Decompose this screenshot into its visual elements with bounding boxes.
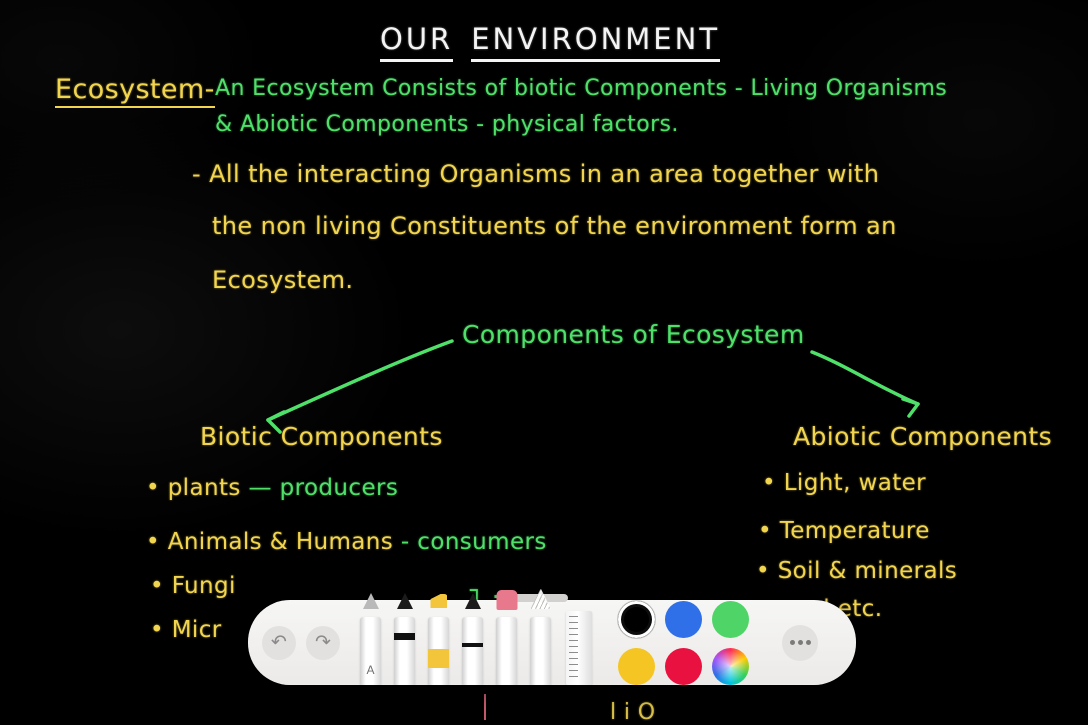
fountain-pen-letter: A: [360, 663, 381, 677]
abiotic-item-3-bullet: •: [756, 558, 770, 584]
fountain-pen-tool[interactable]: A: [358, 607, 383, 685]
color-picker-wheel[interactable]: [712, 648, 749, 685]
history-controls: ↶ ↷: [248, 626, 340, 660]
color-swatch-red[interactable]: [665, 648, 702, 685]
ruler-tool[interactable]: [566, 611, 592, 685]
biotic-item-1-sub: producers: [280, 475, 399, 501]
redo-icon[interactable]: ↷: [306, 626, 340, 660]
arrow-to-abiotic-head: [903, 399, 918, 416]
ink-pen-body-icon: [394, 617, 415, 685]
more-options-icon[interactable]: [782, 625, 818, 661]
biotic-item-4: • Micr: [150, 617, 222, 643]
abiotic-item-3: • Soil & minerals: [756, 558, 957, 584]
biotic-item-2: • Animals & Humans - consumers: [146, 529, 547, 555]
fountain-pen-tip-icon: [363, 593, 379, 609]
color-swatch-yellow[interactable]: [618, 648, 655, 685]
pencil-tip-icon: [465, 593, 481, 609]
paragraph2-line-2: the non living Constituents of the envir…: [212, 212, 897, 240]
definition-line-1: An Ecosystem Consists of biotic Componen…: [215, 76, 947, 101]
biotic-item-1-bullet: •: [146, 475, 160, 501]
ink-pen-tool[interactable]: [392, 607, 417, 685]
highlighter-body-icon: [428, 617, 449, 685]
biotic-item-2-bullet: •: [146, 529, 160, 555]
abiotic-item-2: • Temperature: [758, 518, 930, 544]
arrow-to-biotic-line: [268, 341, 452, 420]
charcoal-pencil-tool[interactable]: [528, 607, 553, 685]
abiotic-item-3-text: Soil & minerals: [778, 558, 957, 584]
abiotic-heading: Abiotic Components: [793, 422, 1052, 451]
definition-line-2: & Abiotic Components - physical factors.: [215, 112, 679, 137]
biotic-item-1-dash: —: [248, 475, 271, 501]
eraser-tool[interactable]: [494, 607, 519, 685]
biotic-heading: Biotic Components: [200, 422, 443, 451]
color-swatches: [618, 599, 752, 686]
drawing-toolbar[interactable]: ↶ ↷ A: [248, 600, 856, 685]
tool-palette: A: [358, 600, 592, 685]
eraser-body-icon: [496, 617, 517, 685]
biotic-item-4-text: Micr: [172, 617, 222, 643]
arrow-to-abiotic-line: [812, 352, 918, 404]
abiotic-item-2-text: Temperature: [780, 518, 930, 544]
definition-label: Ecosystem-: [55, 74, 215, 105]
highlighter-tool[interactable]: [426, 607, 451, 685]
page-title: OURENVIRONMENT: [380, 22, 720, 62]
biotic-item-4-bullet: •: [150, 617, 164, 643]
abiotic-item-1-text: Light, water: [784, 470, 926, 496]
biotic-item-2-sub: consumers: [417, 529, 546, 555]
eraser-tip-icon: [496, 590, 517, 610]
biotic-item-3-text: Fungi: [172, 573, 236, 599]
biotic-item-1-text: plants: [168, 475, 241, 501]
pencil-tool[interactable]: [460, 607, 485, 685]
bottom-note: l i O: [610, 700, 656, 725]
color-swatch-black[interactable]: [618, 601, 655, 638]
charcoal-body-icon: [530, 617, 551, 685]
paragraph2-line-3: Ecosystem.: [212, 266, 353, 294]
components-heading: Components of Ecosystem: [462, 320, 805, 349]
abiotic-item-1-bullet: •: [762, 470, 776, 496]
paragraph2-line-1: - All the interacting Organisms in an ar…: [192, 160, 879, 188]
fountain-pen-body-icon: A: [360, 617, 381, 685]
biotic-item-3: • Fungi: [150, 573, 236, 599]
pencil-body-icon: [462, 617, 483, 685]
definition-label-text: Ecosystem-: [55, 74, 215, 108]
biotic-item-3-bullet: •: [150, 573, 164, 599]
biotic-item-1: • plants — producers: [146, 475, 398, 501]
ink-pen-tip-icon: [397, 593, 413, 609]
abiotic-item-2-bullet: •: [758, 518, 772, 544]
pink-pen-stroke: [484, 694, 486, 720]
biotic-item-2-text: Animals & Humans: [168, 529, 393, 555]
abiotic-item-1: • Light, water: [762, 470, 926, 496]
title-word-environment: ENVIRONMENT: [471, 22, 720, 62]
biotic-item-2-dash: -: [401, 529, 410, 555]
color-swatch-blue[interactable]: [665, 601, 702, 638]
title-word-our: OUR: [380, 22, 453, 62]
color-swatch-green[interactable]: [712, 601, 749, 638]
undo-icon[interactable]: ↶: [262, 626, 296, 660]
